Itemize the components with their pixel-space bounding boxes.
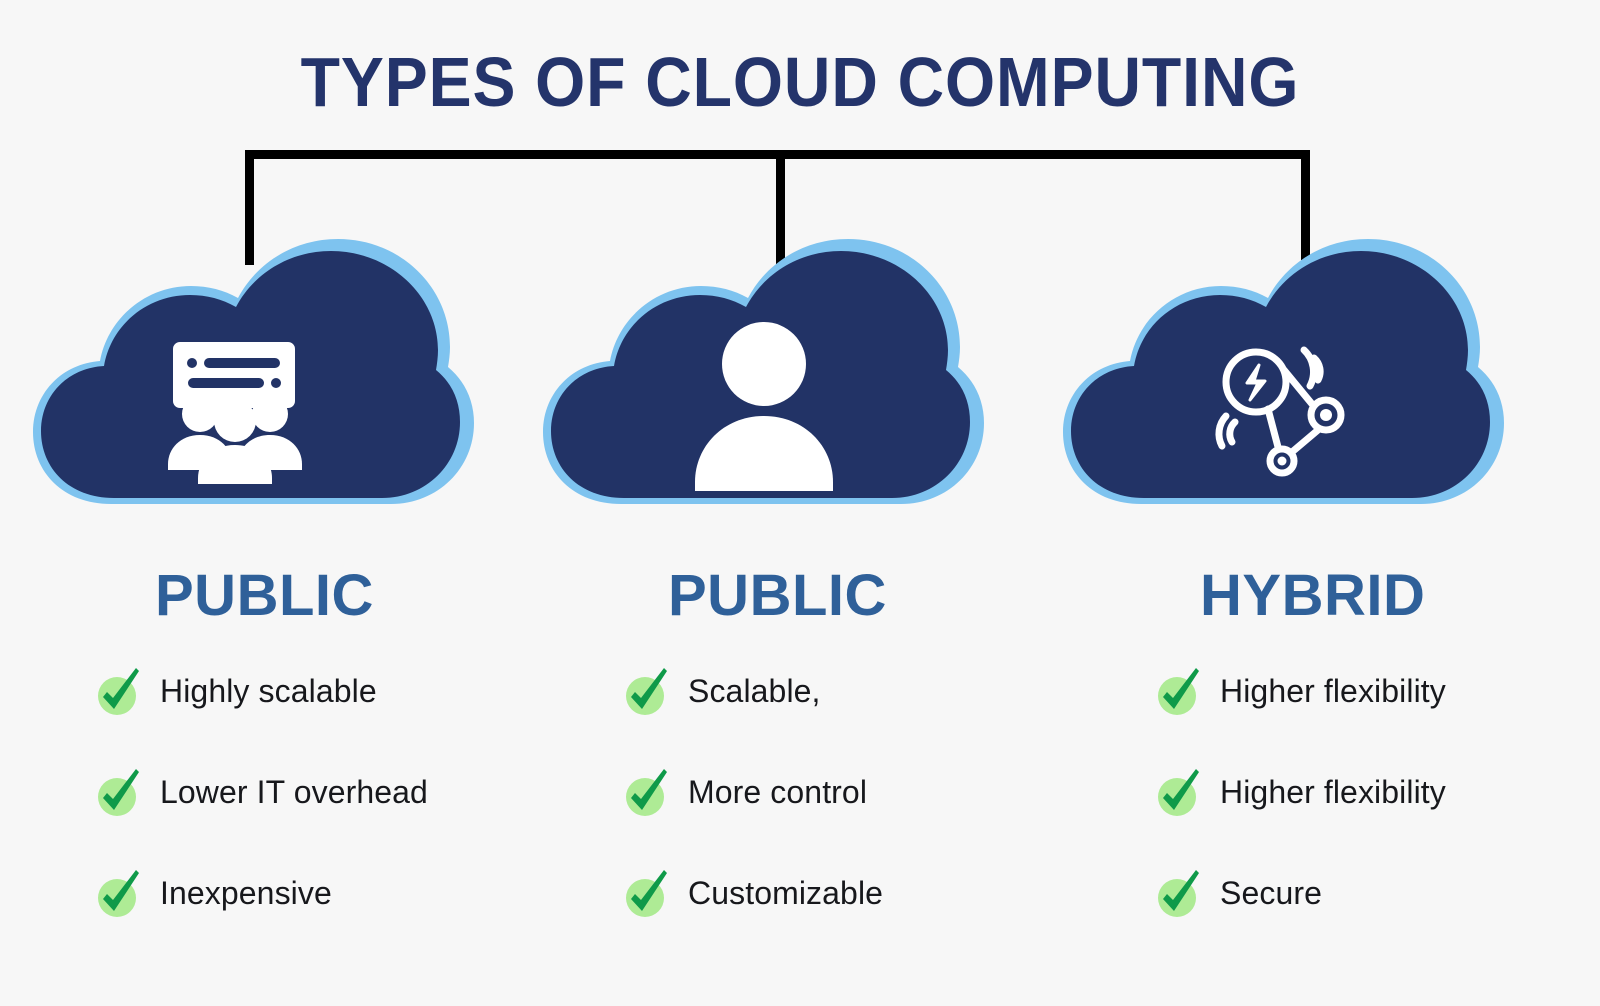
- column-heading-1: PUBLIC: [155, 562, 374, 629]
- feature-list-2: Scalable, More control Customizable: [624, 662, 1094, 922]
- feature-label: Inexpensive: [160, 877, 332, 909]
- cloud-shape-1: [28, 236, 478, 516]
- feature-list-1: Highly scalable Lower IT overhead Inexpe…: [96, 662, 566, 922]
- cloud-card-public-1[interactable]: [28, 236, 478, 516]
- cloud-shape-2: [538, 236, 988, 516]
- list-item: Highly scalable: [96, 662, 566, 720]
- feature-label: Lower IT overhead: [160, 776, 428, 808]
- check-icon: [1156, 766, 1202, 818]
- list-item: Lower IT overhead: [96, 763, 566, 821]
- feature-label: Higher flexibility: [1220, 675, 1446, 707]
- list-item: More control: [624, 763, 1094, 821]
- check-icon: [624, 766, 670, 818]
- feature-label: Higher flexibility: [1220, 776, 1446, 808]
- feature-label: Scalable,: [688, 675, 821, 707]
- check-icon: [1156, 665, 1202, 717]
- check-icon: [96, 867, 142, 919]
- group-presentation-icon: [168, 342, 302, 484]
- page-title: TYPES OF CLOUD COMPUTING: [64, 42, 1536, 122]
- cloud-card-hybrid[interactable]: [1058, 236, 1508, 516]
- list-item: Customizable: [624, 864, 1094, 922]
- check-icon: [624, 867, 670, 919]
- feature-label: Highly scalable: [160, 675, 377, 707]
- cloud-card-public-2[interactable]: [538, 236, 988, 516]
- list-item: Higher flexibility: [1156, 662, 1600, 720]
- list-item: Secure: [1156, 864, 1600, 922]
- bracket-horizontal-bar: [245, 150, 1310, 159]
- check-icon: [624, 665, 670, 717]
- feature-label: More control: [688, 776, 867, 808]
- check-icon: [1156, 867, 1202, 919]
- list-item: Scalable,: [624, 662, 1094, 720]
- column-heading-3: HYBRID: [1200, 562, 1425, 629]
- list-item: Inexpensive: [96, 864, 566, 922]
- infographic-canvas: TYPES OF CLOUD COMPUTING: [0, 0, 1600, 1006]
- check-icon: [96, 665, 142, 717]
- list-item: Higher flexibility: [1156, 763, 1600, 821]
- cloud-shape-3: [1058, 236, 1508, 516]
- feature-label: Customizable: [688, 877, 883, 909]
- feature-list-3: Higher flexibility Higher flexibility Se…: [1156, 662, 1600, 922]
- check-icon: [96, 766, 142, 818]
- column-heading-2: PUBLIC: [668, 562, 887, 629]
- feature-label: Secure: [1220, 877, 1322, 909]
